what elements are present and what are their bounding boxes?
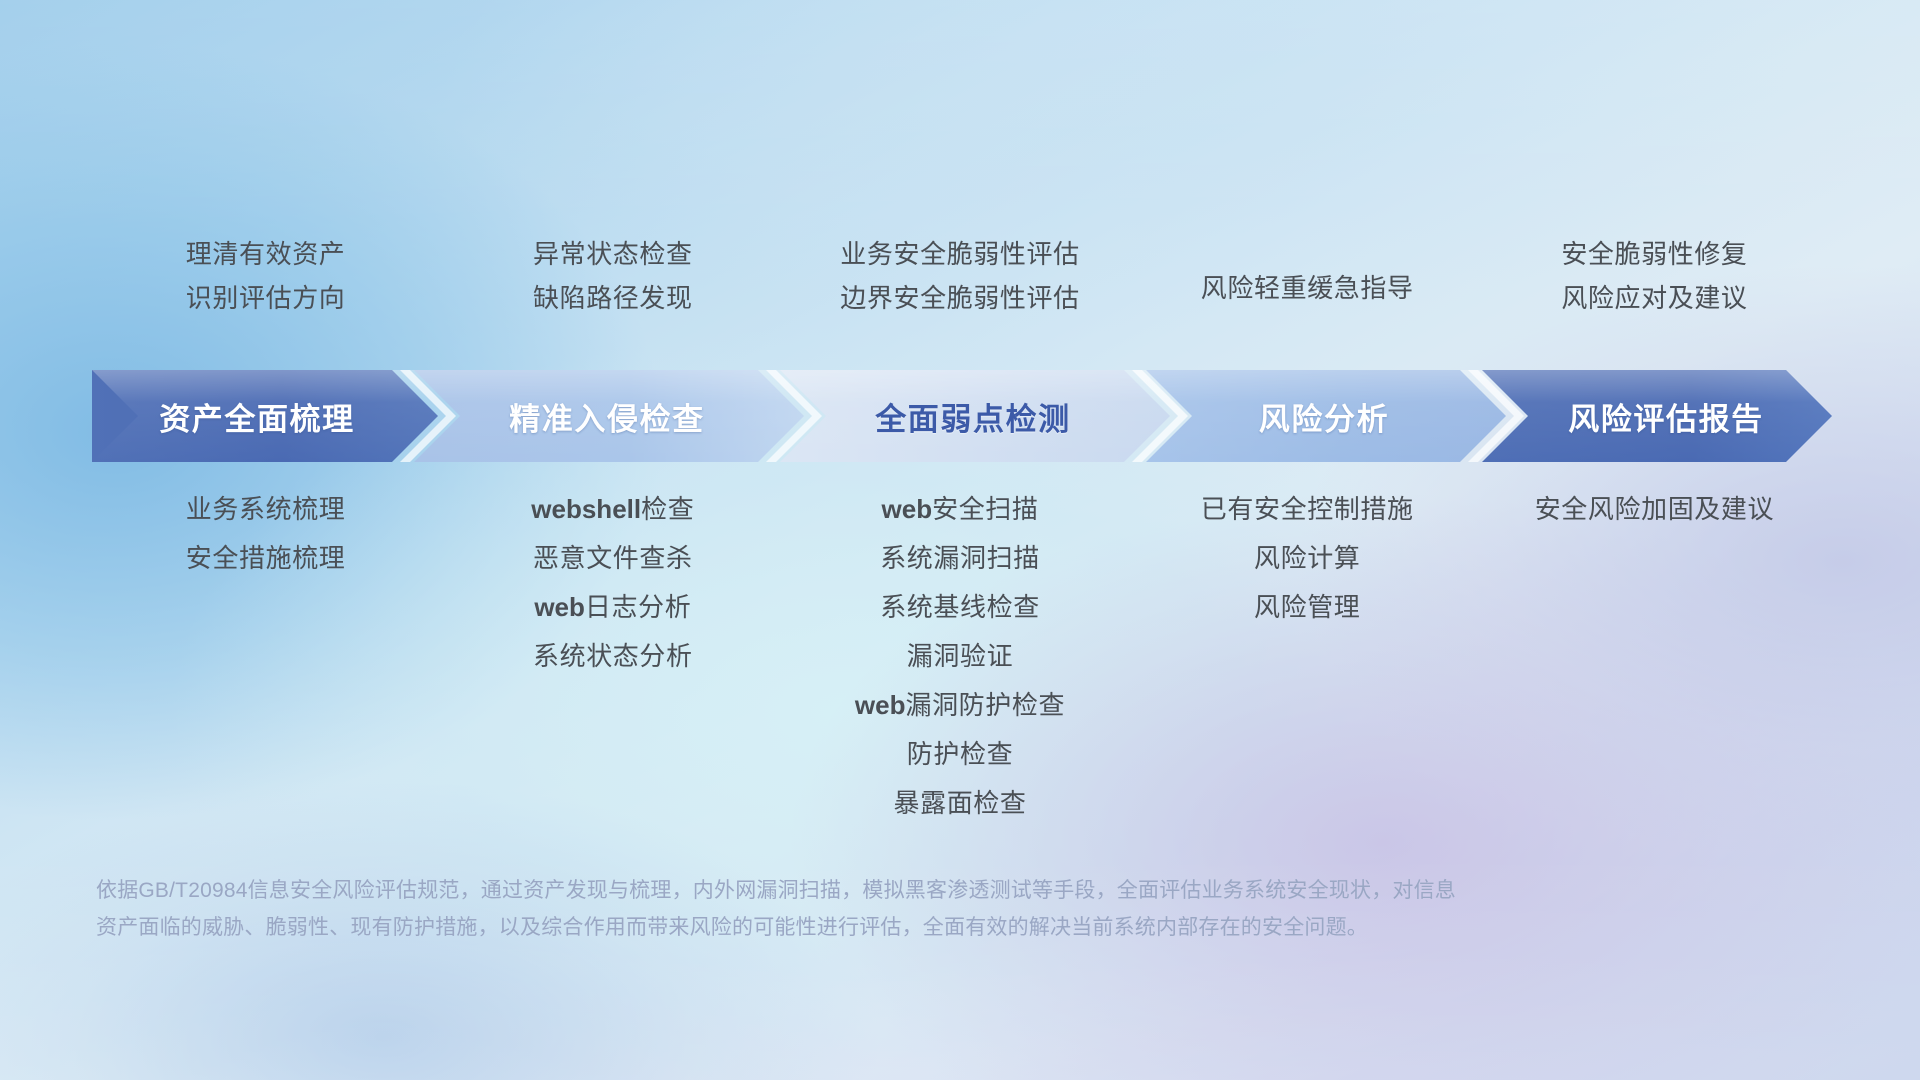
bottom-item: 系统漏洞扫描 bbox=[880, 534, 1040, 583]
stage-title-intrusion-check[interactable]: 精准入侵检查 bbox=[432, 370, 782, 462]
bottom-item-latin: web bbox=[534, 592, 585, 622]
bottom-item: 防护检查 bbox=[907, 730, 1013, 779]
bottom-item: 已有安全控制措施 bbox=[1201, 485, 1414, 534]
bottom-item-text: 日志分析 bbox=[585, 592, 691, 622]
top-column-risk-report: 安全脆弱性修复风险应对及建议 bbox=[1481, 232, 1828, 352]
top-column-risk-analysis: 风险轻重缓急指导 bbox=[1134, 232, 1481, 352]
stage-title-risk-report[interactable]: 风险评估报告 bbox=[1500, 370, 1832, 462]
bottom-item: 安全风险加固及建议 bbox=[1535, 485, 1774, 534]
top-item: 风险应对及建议 bbox=[1561, 276, 1747, 320]
slide-canvas: 理清有效资产识别评估方向异常状态检查缺陷路径发现业务安全脆弱性评估边界安全脆弱性… bbox=[0, 0, 1920, 1080]
bottom-column-asset-inventory: 业务系统梳理安全措施梳理 bbox=[92, 485, 439, 815]
bottom-item: 业务系统梳理 bbox=[186, 485, 346, 534]
top-item: 理清有效资产 bbox=[186, 232, 346, 276]
bottom-item-text: 漏洞防护检查 bbox=[905, 690, 1065, 720]
stage-title-risk-analysis[interactable]: 风险分析 bbox=[1164, 370, 1484, 462]
top-item: 风险轻重缓急指导 bbox=[1201, 266, 1414, 310]
bottom-item: 系统状态分析 bbox=[533, 632, 693, 681]
top-outcomes-row: 理清有效资产识别评估方向异常状态检查缺陷路径发现业务安全脆弱性评估边界安全脆弱性… bbox=[92, 232, 1828, 352]
stage-title-asset-inventory[interactable]: 资产全面梳理 bbox=[92, 370, 422, 462]
bottom-column-risk-report: 安全风险加固及建议 bbox=[1481, 485, 1828, 815]
top-item: 业务安全脆弱性评估 bbox=[840, 232, 1079, 276]
bottom-item-text: 检查 bbox=[641, 494, 694, 524]
top-item: 边界安全脆弱性评估 bbox=[840, 276, 1079, 320]
process-arrow-labels: 资产全面梳理精准入侵检查全面弱点检测风险分析风险评估报告 bbox=[92, 370, 1832, 462]
bottom-activities-row: 业务系统梳理安全措施梳理webshell检查恶意文件查杀web日志分析系统状态分… bbox=[92, 485, 1828, 815]
bottom-item: web安全扫描 bbox=[882, 485, 1039, 534]
bottom-item-latin: web bbox=[855, 690, 906, 720]
bottom-item: 恶意文件查杀 bbox=[533, 534, 693, 583]
stage-title-weakness-detection[interactable]: 全面弱点检测 bbox=[798, 370, 1148, 462]
bottom-item: web漏洞防护检查 bbox=[855, 681, 1065, 730]
bottom-item: 风险计算 bbox=[1254, 534, 1360, 583]
top-item: 异常状态检查 bbox=[533, 232, 693, 276]
bottom-column-risk-analysis: 已有安全控制措施风险计算风险管理 bbox=[1134, 485, 1481, 815]
bottom-column-intrusion-check: webshell检查恶意文件查杀web日志分析系统状态分析 bbox=[439, 485, 786, 815]
bottom-item-latin: web bbox=[882, 494, 933, 524]
footer-description: 依据GB/T20984信息安全风险评估规范，通过资产发现与梳理，内外网漏洞扫描，… bbox=[96, 872, 1756, 946]
bottom-item-latin: webshell bbox=[531, 494, 641, 524]
top-item: 安全脆弱性修复 bbox=[1561, 232, 1747, 276]
bottom-item: 系统基线检查 bbox=[880, 583, 1040, 632]
top-column-intrusion-check: 异常状态检查缺陷路径发现 bbox=[439, 232, 786, 352]
bottom-item: 暴露面检查 bbox=[894, 779, 1027, 828]
bottom-item: web日志分析 bbox=[534, 583, 691, 632]
bottom-item: 漏洞验证 bbox=[907, 632, 1013, 681]
bottom-item-text: 安全扫描 bbox=[932, 494, 1038, 524]
bottom-item: 风险管理 bbox=[1254, 583, 1360, 632]
bottom-item: 安全措施梳理 bbox=[186, 534, 346, 583]
bottom-item: webshell检查 bbox=[531, 485, 694, 534]
footer-line-2: 资产面临的威胁、脆弱性、现有防护措施，以及综合作用而带来风险的可能性进行评估，全… bbox=[96, 909, 1756, 946]
top-column-weakness-detection: 业务安全脆弱性评估边界安全脆弱性评估 bbox=[786, 232, 1133, 352]
top-item: 识别评估方向 bbox=[186, 276, 346, 320]
top-item: 缺陷路径发现 bbox=[533, 276, 693, 320]
bottom-column-weakness-detection: web安全扫描系统漏洞扫描系统基线检查漏洞验证web漏洞防护检查防护检查暴露面检… bbox=[786, 485, 1133, 815]
top-column-asset-inventory: 理清有效资产识别评估方向 bbox=[92, 232, 439, 352]
process-arrow-band: 资产全面梳理精准入侵检查全面弱点检测风险分析风险评估报告 bbox=[92, 370, 1832, 462]
footer-line-1: 依据GB/T20984信息安全风险评估规范，通过资产发现与梳理，内外网漏洞扫描，… bbox=[96, 872, 1756, 909]
